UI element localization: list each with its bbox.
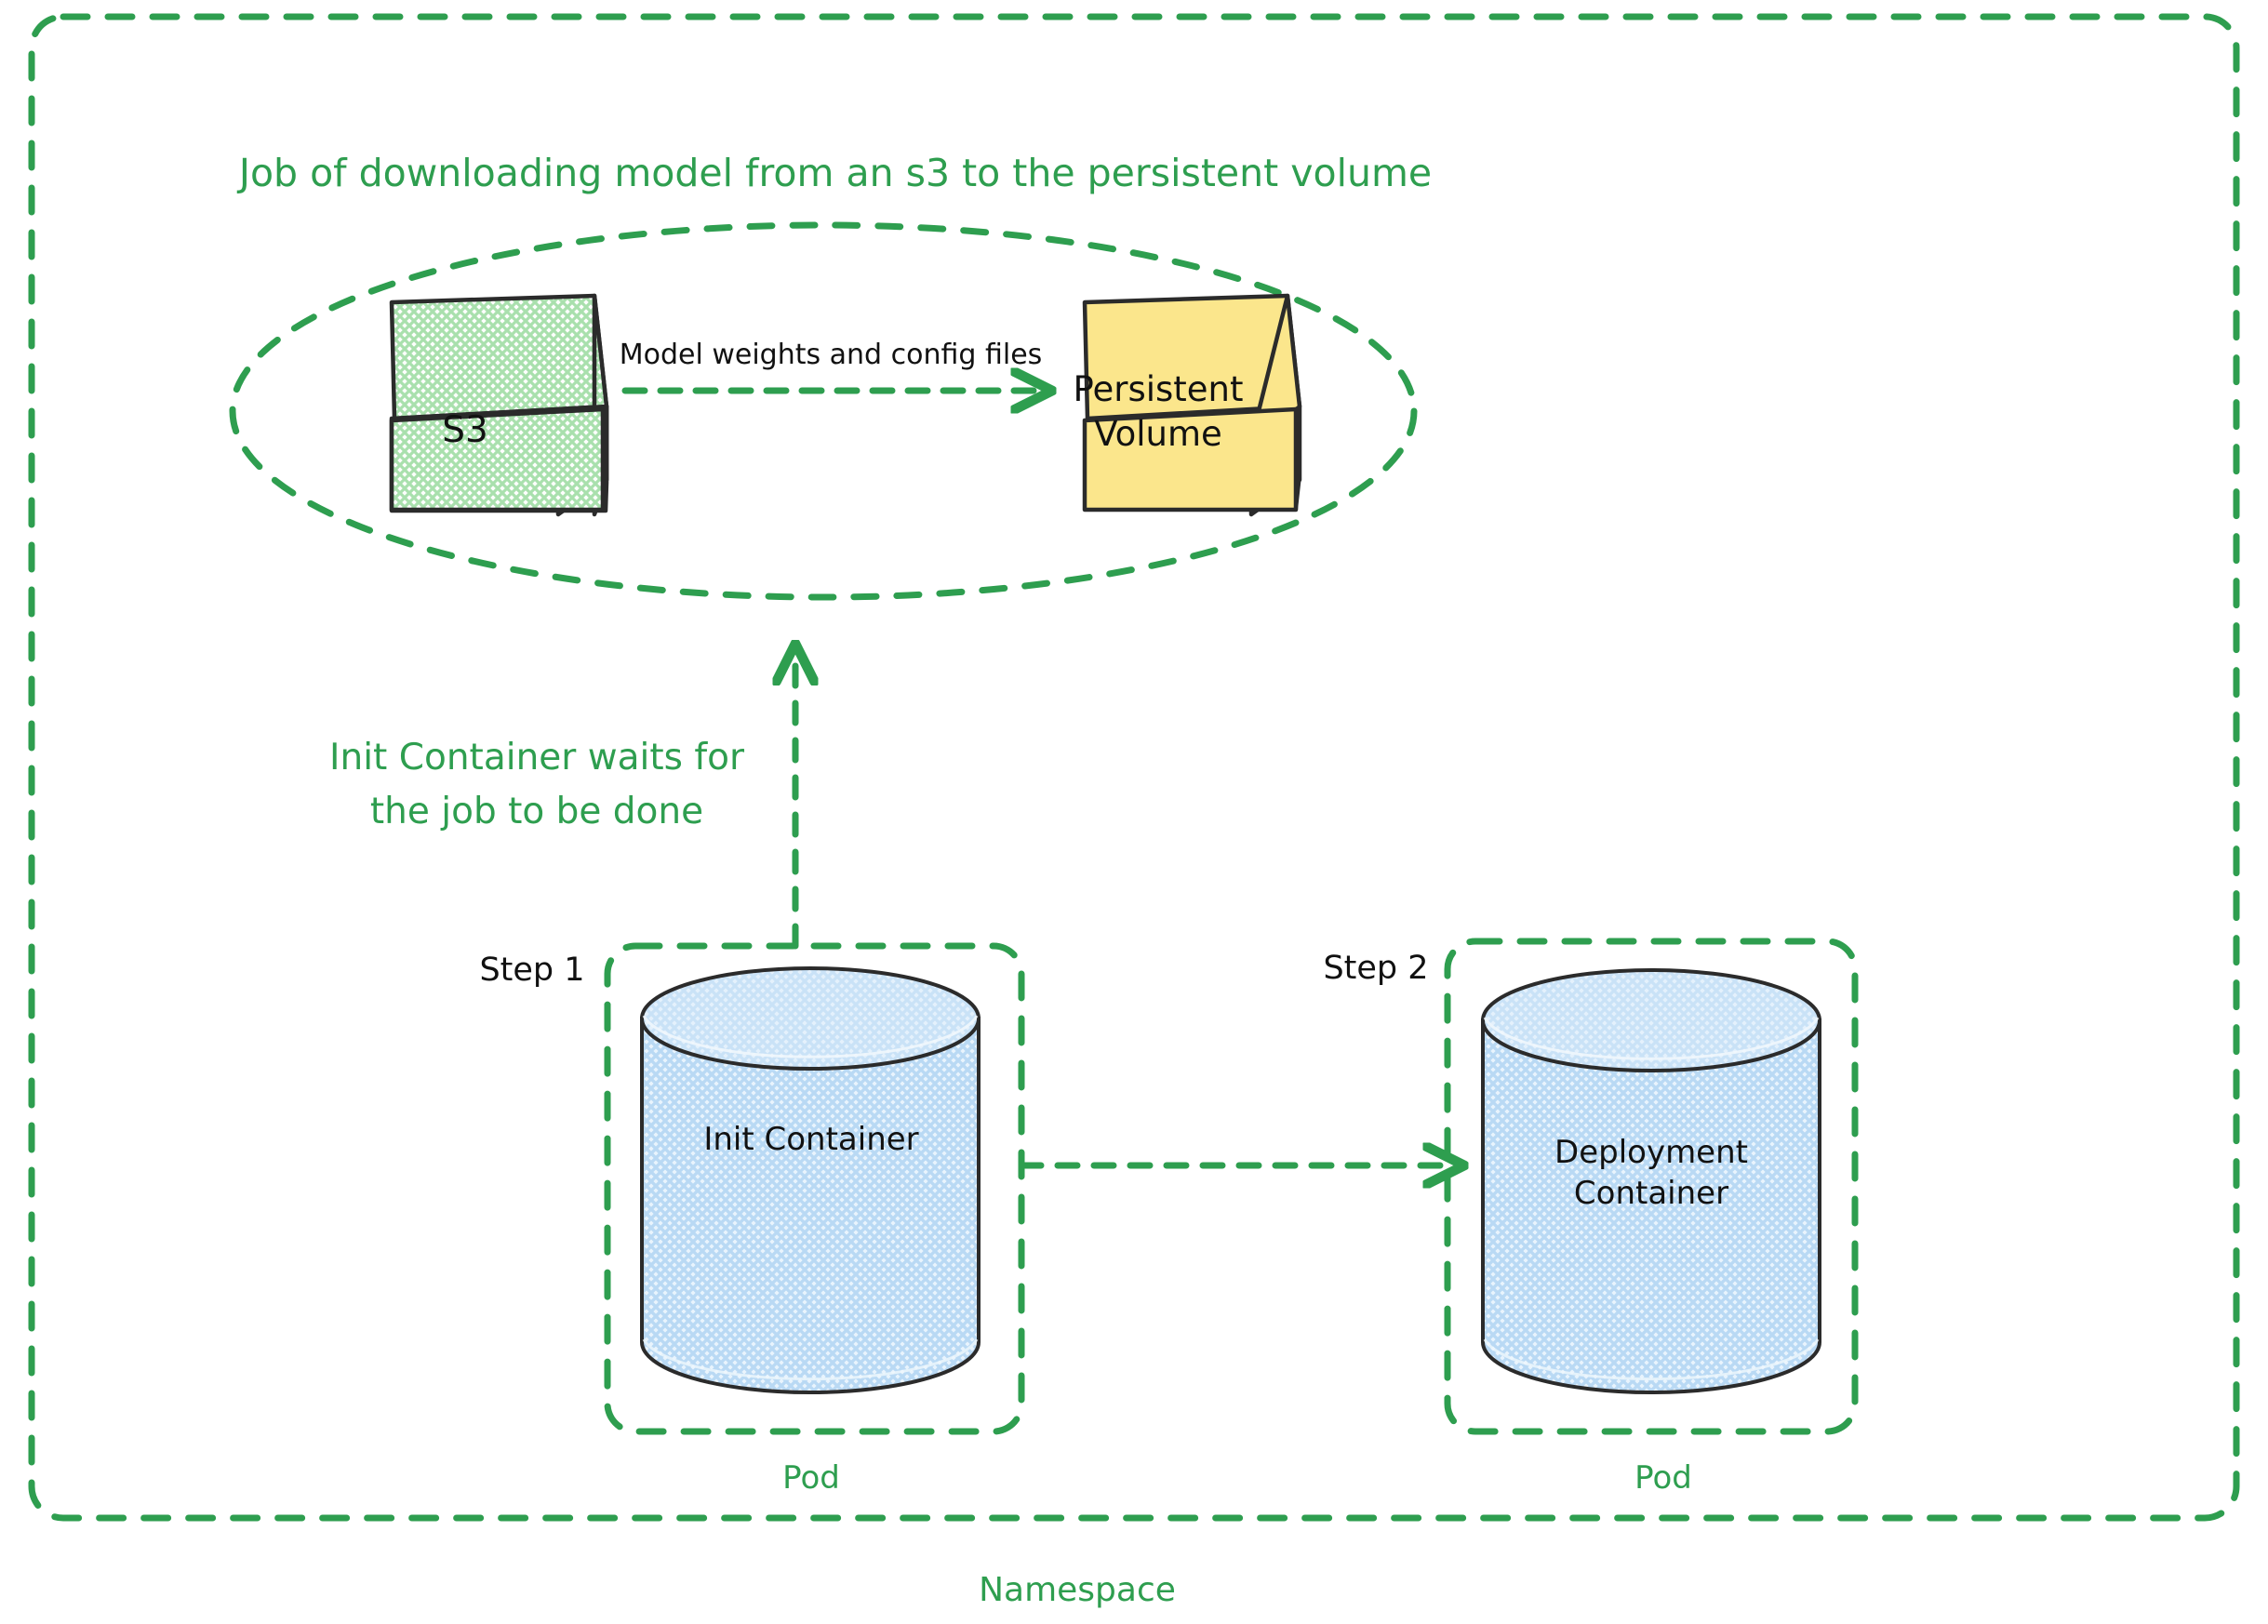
init-container-pod-label: Pod bbox=[782, 1458, 840, 1499]
init-container-label: Init Container bbox=[703, 1120, 918, 1161]
s3-cube-shape bbox=[392, 296, 607, 514]
deployment-container-label-line1: Deployment bbox=[1554, 1133, 1748, 1174]
diagram-canvas: Job of downloading model from an s3 to t… bbox=[0, 0, 2268, 1624]
init-container-cylinder-shape bbox=[642, 968, 979, 1392]
persistent-volume-label-line1: Persistent bbox=[1073, 367, 1243, 411]
edge-label-init-waits-line2: the job to be done bbox=[370, 789, 703, 835]
namespace-label: Namespace bbox=[979, 1569, 1176, 1612]
deployment-container-pod-label: Pod bbox=[1634, 1458, 1692, 1499]
s3-cube-label: S3 bbox=[442, 407, 488, 454]
edge-label-init-waits-line1: Init Container waits for bbox=[329, 735, 744, 781]
deployment-container-label-line2: Container bbox=[1574, 1174, 1728, 1215]
persistent-volume-label-line2: Volume bbox=[1094, 412, 1222, 456]
step-1-label: Step 1 bbox=[479, 950, 584, 992]
step-2-label: Step 2 bbox=[1323, 948, 1428, 990]
job-group-title: Job of downloading model from an s3 to t… bbox=[239, 149, 1432, 197]
edge-label-model-weights: Model weights and config files bbox=[620, 338, 1043, 373]
diagram-vector-layer bbox=[0, 0, 2268, 1624]
